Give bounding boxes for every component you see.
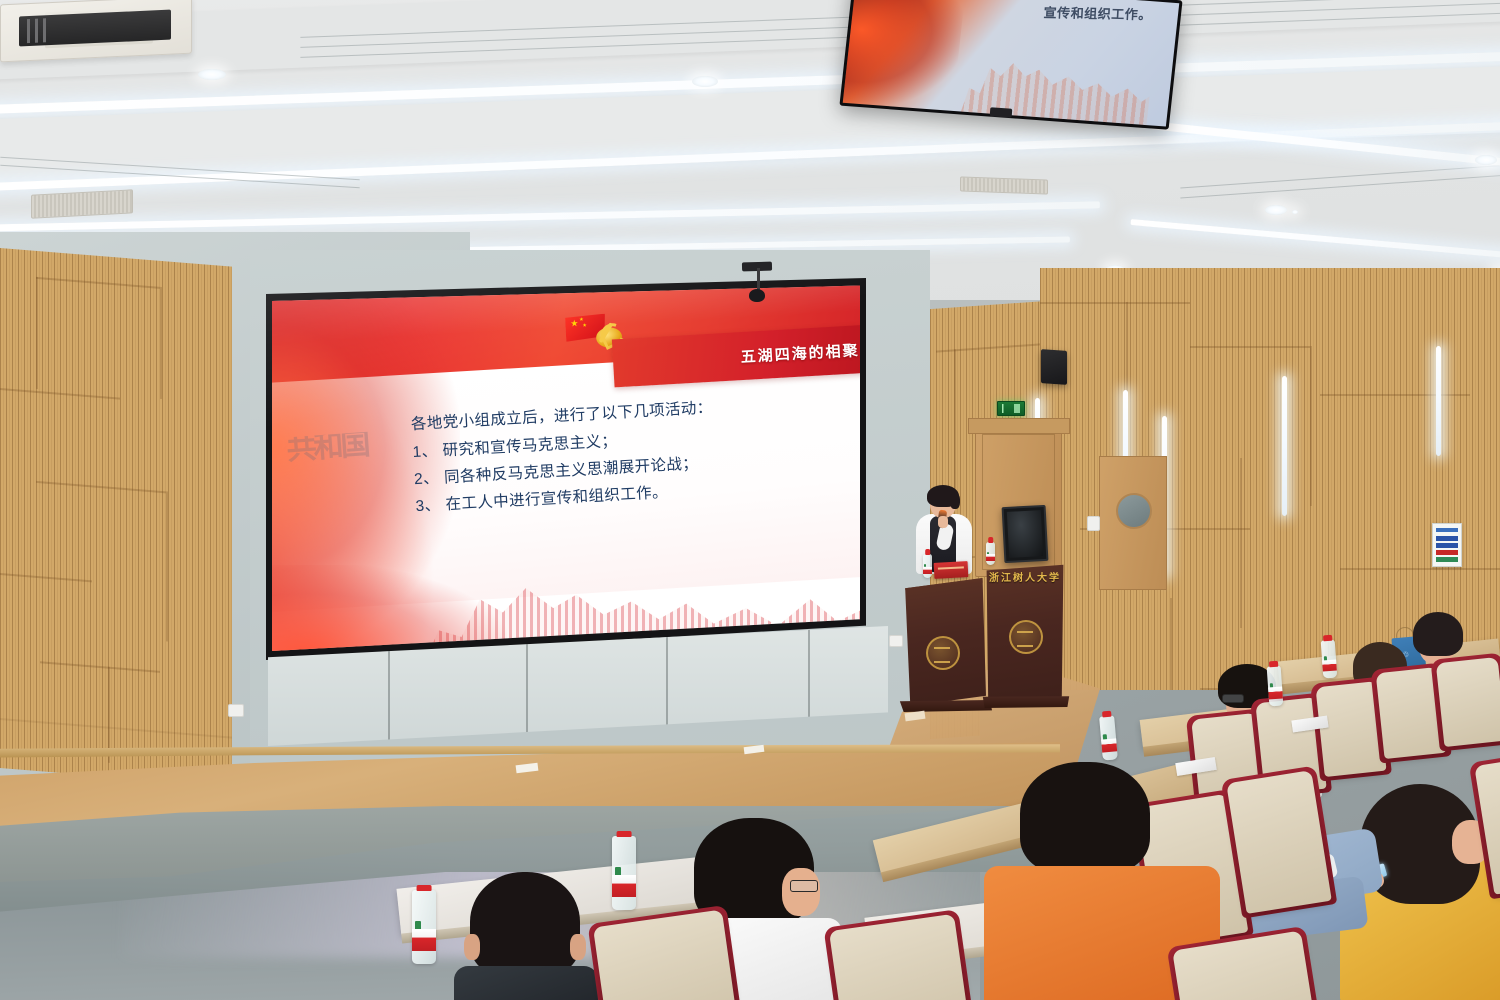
audience-student-a — [460, 872, 588, 1000]
water-bottle-right-1 — [1267, 666, 1284, 707]
camera-dome — [749, 289, 765, 302]
slide-bottom-glow — [272, 565, 507, 654]
slide-bullet-1-num: 1、 — [412, 437, 443, 466]
podium-right-lectern[interactable]: 浙江树人大学 — [985, 562, 1065, 702]
ceiling-vent-grille — [31, 189, 133, 218]
tv-wall-mount — [990, 107, 1013, 118]
water-bottle-podium-2 — [986, 542, 995, 565]
water-bottle-front-1 — [412, 890, 436, 964]
door-frame-left — [968, 418, 1070, 434]
wall-led-strip-5 — [1436, 346, 1441, 456]
wall-notice-poster — [1432, 523, 1462, 567]
red-nameplate — [934, 561, 969, 579]
door-porthole-window — [1116, 493, 1152, 529]
glasses-icon — [1222, 694, 1244, 703]
tv-screen-content: 宣传和组织工作。 — [843, 0, 1180, 127]
wall-speaker-box — [1041, 349, 1067, 385]
ceiling-vent-grille-2 — [960, 176, 1048, 194]
auditorium-seat-front-1[interactable] — [593, 909, 737, 1000]
downlight-4 — [1475, 155, 1497, 165]
podium-left-base — [896, 700, 992, 712]
podium-left — [900, 578, 986, 706]
wall-led-strip-4 — [1282, 376, 1287, 516]
emergency-exit-sign — [997, 401, 1025, 416]
air-conditioner-unit — [0, 0, 192, 62]
water-bottle-podium — [923, 554, 932, 578]
tv-slide-text: 宣传和组织工作。 — [1043, 2, 1152, 23]
water-bottle-right-2 — [1321, 640, 1338, 679]
water-bottle-front-2 — [612, 836, 636, 910]
auditorium-seat-f2[interactable] — [1226, 770, 1332, 914]
podium-right-base — [981, 696, 1071, 708]
door-right[interactable] — [1099, 456, 1167, 590]
glasses-icon-2 — [790, 880, 818, 892]
camera-mount-pole — [757, 268, 760, 290]
power-outlet-wall[interactable] — [889, 635, 903, 647]
ceiling-led-strip-3 — [0, 201, 1100, 231]
slide-surface: 共和国 ★ ★ ★ 五湖四海的相聚 各地党小组成立后，进行了以下几项活动： — [272, 284, 860, 654]
slide-banner-title: 五湖四海的相聚 — [740, 339, 860, 367]
light-switch-plate[interactable] — [1087, 516, 1100, 531]
downlight-8 — [1292, 210, 1298, 214]
power-outlet-left[interactable] — [228, 704, 244, 717]
university-emblem-icon-2 — [1009, 620, 1043, 654]
led-presentation-screen[interactable]: 共和国 ★ ★ ★ 五湖四海的相聚 各地党小组成立后，进行了以下几项活动： — [266, 278, 866, 660]
university-emblem-icon — [926, 636, 960, 670]
slide-bullet-2-num: 2、 — [413, 464, 444, 493]
downlight-3 — [1265, 205, 1287, 215]
ceiling-led-strip-6 — [1130, 219, 1500, 259]
wood-slat-wall-left — [0, 248, 232, 787]
podium-confidence-monitor — [1002, 505, 1049, 563]
auditorium-seat-r5[interactable] — [1436, 657, 1500, 747]
downlight-1 — [198, 69, 226, 80]
slide-bullet-3-num: 3、 — [415, 491, 446, 520]
auditorium-seat-front-2[interactable] — [829, 914, 969, 1000]
lecture-hall-photo: 宣传和组织工作。 — [0, 0, 1500, 1000]
downlight-2 — [692, 76, 718, 87]
